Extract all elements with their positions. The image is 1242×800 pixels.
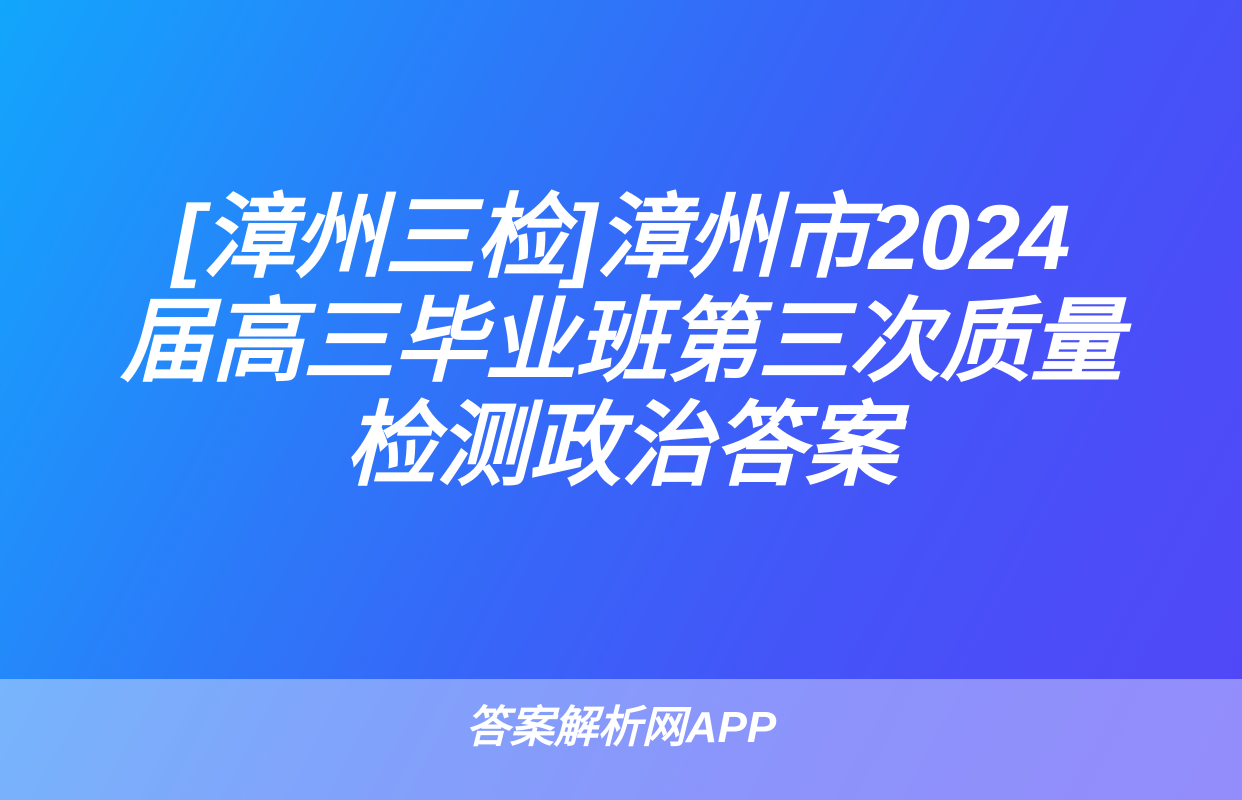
watermark: 答案解析网APP xyxy=(0,702,1242,754)
title-line-2: 届高三毕业班第三次质量 xyxy=(30,290,1212,394)
watermark-label: 答案解析网APP xyxy=(466,702,776,754)
title-line-3: 检测政治答案 xyxy=(30,394,1212,498)
title-line-1: [漳州三检]漳州市2024 xyxy=(30,186,1212,290)
exam-answer-banner: [漳州三检]漳州市2024 届高三毕业班第三次质量 检测政治答案 答案解析网AP… xyxy=(0,0,1242,800)
page-title: [漳州三检]漳州市2024 届高三毕业班第三次质量 检测政治答案 xyxy=(0,186,1242,498)
